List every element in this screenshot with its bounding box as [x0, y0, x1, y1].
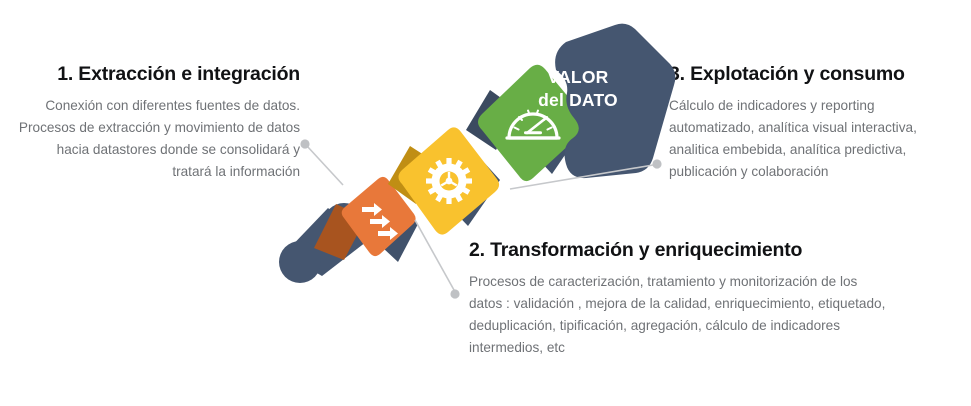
- connector-callout-1: [295, 133, 365, 193]
- connector-1-line: [307, 146, 343, 185]
- connector-callout-3: [505, 156, 665, 198]
- callout-1-heading: 1. Extracción e integración: [18, 62, 300, 86]
- connector-1-dot: [300, 139, 309, 148]
- connector-callout-2: [405, 212, 475, 304]
- callout-1-body: Conexión con diferentes fuentes de datos…: [18, 95, 300, 183]
- callout-3-body: Cálculo de indicadores y reporting autom…: [669, 95, 959, 183]
- callout-explotacion-consumo: 3. Explotación y consumo Cálculo de indi…: [669, 62, 959, 183]
- connector-3-line: [510, 165, 653, 189]
- connector-3-dot: [652, 159, 661, 168]
- connector-2-line: [415, 220, 454, 290]
- connector-2-dot: [450, 289, 459, 298]
- callout-3-heading: 3. Explotación y consumo: [669, 62, 959, 86]
- nose-cone-face: [555, 24, 675, 178]
- diagram-canvas: 1. Extracción e integración Conexión con…: [0, 0, 971, 406]
- callout-extraccion-integracion: 1. Extracción e integración Conexión con…: [18, 62, 300, 183]
- callout-2-body: Procesos de caracterización, tratamiento…: [469, 271, 889, 359]
- rocket-nose-cone-navy: [555, 24, 675, 178]
